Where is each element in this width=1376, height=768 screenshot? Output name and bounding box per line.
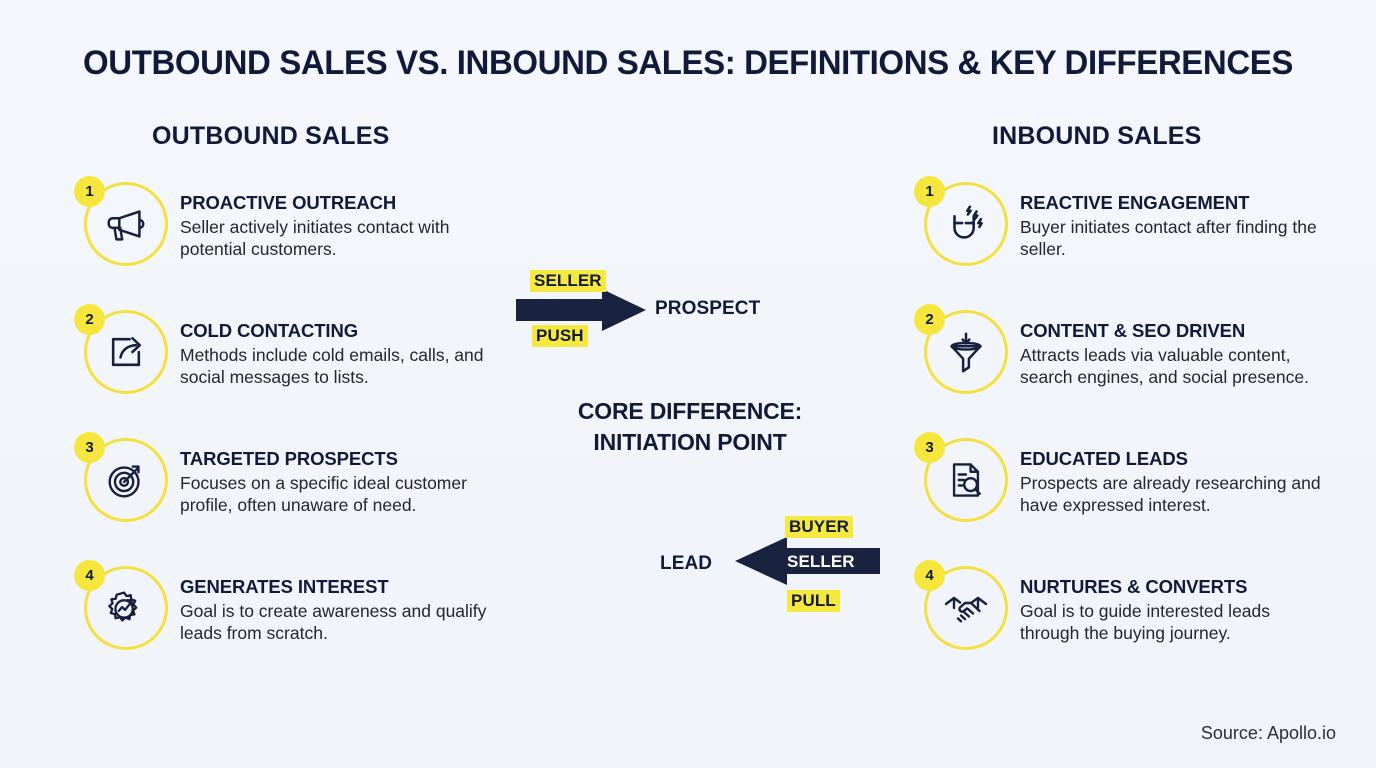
outbound-heading-text: OUTBOUND SALES (146, 122, 396, 151)
item-number-badge: 4 (914, 560, 945, 591)
item-number-badge: 2 (914, 304, 945, 335)
arrow-head (602, 289, 646, 331)
item-text: EDUCATED LEADS Prospects are already res… (1010, 432, 1328, 517)
outbound-column-heading: OUTBOUND SALES (146, 122, 396, 151)
item-description: Goal is to create awareness and qualify … (180, 600, 488, 644)
icon-badge: 1 (74, 176, 170, 272)
item-text: COLD CONTACTING Methods include cold ema… (170, 304, 488, 389)
list-item: 4 NURTURES & CONVERTS (914, 560, 1334, 656)
item-description: Prospects are already researching and ha… (1020, 472, 1328, 516)
item-number-badge: 3 (74, 432, 105, 463)
seller-push-arrow-group: SELLER PUSH PROSPECT (500, 265, 790, 355)
list-item: 1 PROACTIVE OUTREACH Seller actively ini… (74, 176, 494, 272)
item-description: Focuses on a specific ideal customer pro… (180, 472, 488, 516)
buyer-label: BUYER (785, 516, 853, 538)
item-text: PROACTIVE OUTREACH Seller actively initi… (170, 176, 488, 261)
lead-label: LEAD (660, 553, 712, 575)
seller-label-bottom: SELLER (787, 552, 855, 572)
seller-label-top: SELLER (530, 270, 606, 292)
icon-badge: 3 (914, 432, 1010, 528)
infographic-canvas: OUTBOUND SALES VS. INBOUND SALES: DEFINI… (0, 0, 1376, 768)
item-text: GENERATES INTEREST Goal is to create awa… (170, 560, 488, 645)
item-number-badge: 4 (74, 560, 105, 591)
item-title: TARGETED PROSPECTS (180, 448, 488, 469)
item-description: Goal is to guide interested leads throug… (1020, 600, 1328, 644)
prospect-label: PROSPECT (655, 298, 760, 320)
item-title: GENERATES INTEREST (180, 576, 488, 597)
inbound-column-heading: INBOUND SALES (986, 122, 1208, 151)
item-number-badge: 2 (74, 304, 105, 335)
item-description: Attracts leads via valuable content, sea… (1020, 344, 1328, 388)
core-difference-line1: CORE DIFFERENCE: (480, 396, 900, 427)
inbound-heading-text: INBOUND SALES (986, 122, 1208, 151)
item-text: NURTURES & CONVERTS Goal is to guide int… (1010, 560, 1328, 645)
item-description: Buyer initiates contact after finding th… (1020, 216, 1328, 260)
item-title: NURTURES & CONVERTS (1020, 576, 1328, 597)
icon-badge: 2 (914, 304, 1010, 400)
list-item: 4 GENERATES INTEREST Goal is to create a… (74, 560, 494, 656)
item-title: CONTENT & SEO DRIVEN (1020, 320, 1328, 341)
outbound-items-list: 1 PROACTIVE OUTREACH Seller actively ini… (74, 176, 494, 656)
arrow-head (735, 537, 787, 585)
arrow-shaft (516, 299, 606, 321)
core-difference-callout: CORE DIFFERENCE: INITIATION POINT (480, 396, 900, 458)
item-description: Seller actively initiates contact with p… (180, 216, 488, 260)
list-item: 2 COLD CONTACTING Methods include cold e… (74, 304, 494, 400)
push-label: PUSH (532, 325, 588, 347)
core-difference-line2: INITIATION POINT (588, 427, 791, 458)
inbound-items-list: 1 REACTIVE ENGAGEMENT Buyer initiates co… (914, 176, 1334, 656)
item-number-badge: 3 (914, 432, 945, 463)
item-title: REACTIVE ENGAGEMENT (1020, 192, 1328, 213)
item-number-badge: 1 (914, 176, 945, 207)
icon-badge: 3 (74, 432, 170, 528)
list-item: 3 TARGETED PROSPECTS Focuses on a specif… (74, 432, 494, 528)
list-item: 2 CONTENT & SEO DRIVEN Attracts leads vi… (914, 304, 1334, 400)
icon-badge: 4 (74, 560, 170, 656)
item-title: COLD CONTACTING (180, 320, 488, 341)
icon-badge: 2 (74, 304, 170, 400)
buyer-pull-arrow-group: BUYER SELLER PULL LEAD (635, 510, 925, 610)
item-description: Methods include cold emails, calls, and … (180, 344, 488, 388)
list-item: 3 EDUCATED LEADS Prospects are already (914, 432, 1334, 528)
center-diagram: SELLER PUSH PROSPECT CORE DIFFERENCE: IN… (480, 0, 900, 768)
pull-label: PULL (787, 590, 840, 612)
item-text: REACTIVE ENGAGEMENT Buyer initiates cont… (1010, 176, 1328, 261)
icon-badge: 4 (914, 560, 1010, 656)
icon-badge: 1 (914, 176, 1010, 272)
list-item: 1 REACTIVE ENGAGEMENT Buyer initiates co… (914, 176, 1334, 272)
item-number-badge: 1 (74, 176, 105, 207)
item-text: TARGETED PROSPECTS Focuses on a specific… (170, 432, 488, 517)
source-attribution: Source: Apollo.io (1201, 723, 1336, 744)
item-text: CONTENT & SEO DRIVEN Attracts leads via … (1010, 304, 1328, 389)
item-title: PROACTIVE OUTREACH (180, 192, 488, 213)
item-title: EDUCATED LEADS (1020, 448, 1328, 469)
